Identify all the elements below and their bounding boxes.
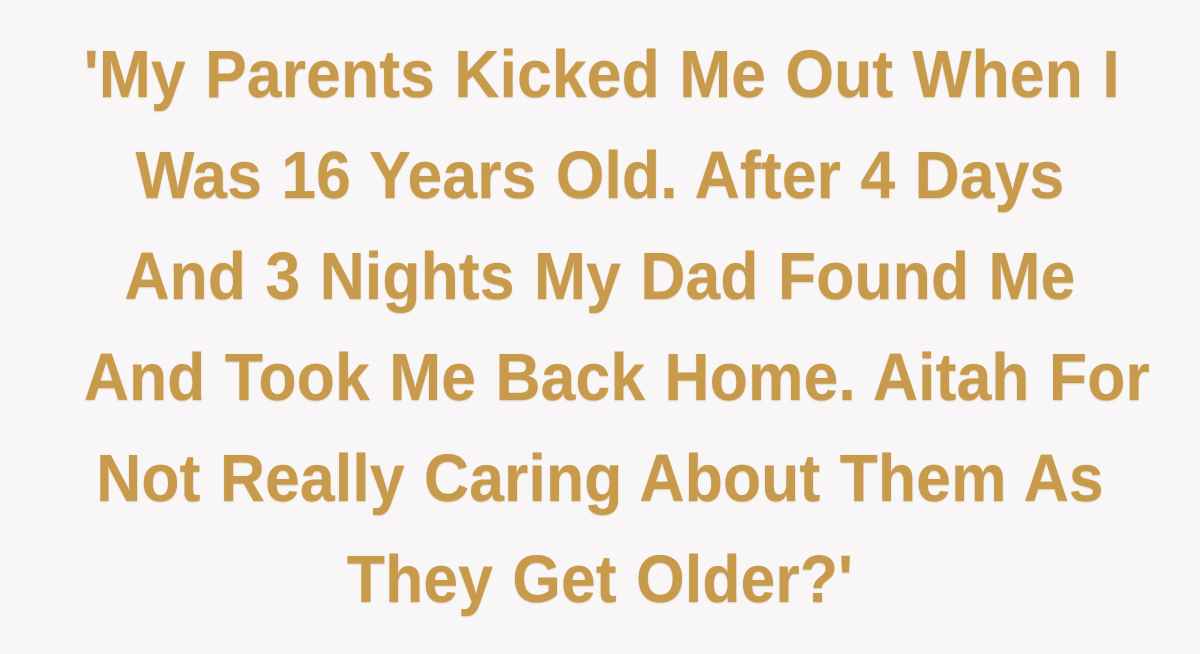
headline-line-6: They Get Older?' bbox=[84, 529, 1116, 630]
headline-card: 'My Parents Kicked Me Out When I Was 16 … bbox=[0, 0, 1200, 654]
headline-line-1: 'My Parents Kicked Me Out When I bbox=[84, 24, 1116, 125]
headline-line-4: And Took Me Back Home. Aitah For bbox=[84, 327, 1116, 428]
headline-line-5: Not Really Caring About Them As bbox=[84, 428, 1116, 529]
page-title: 'My Parents Kicked Me Out When I Was 16 … bbox=[45, 24, 1155, 630]
headline-line-2: Was 16 Years Old. After 4 Days bbox=[84, 125, 1116, 226]
headline-line-3: And 3 Nights My Dad Found Me bbox=[84, 226, 1116, 327]
